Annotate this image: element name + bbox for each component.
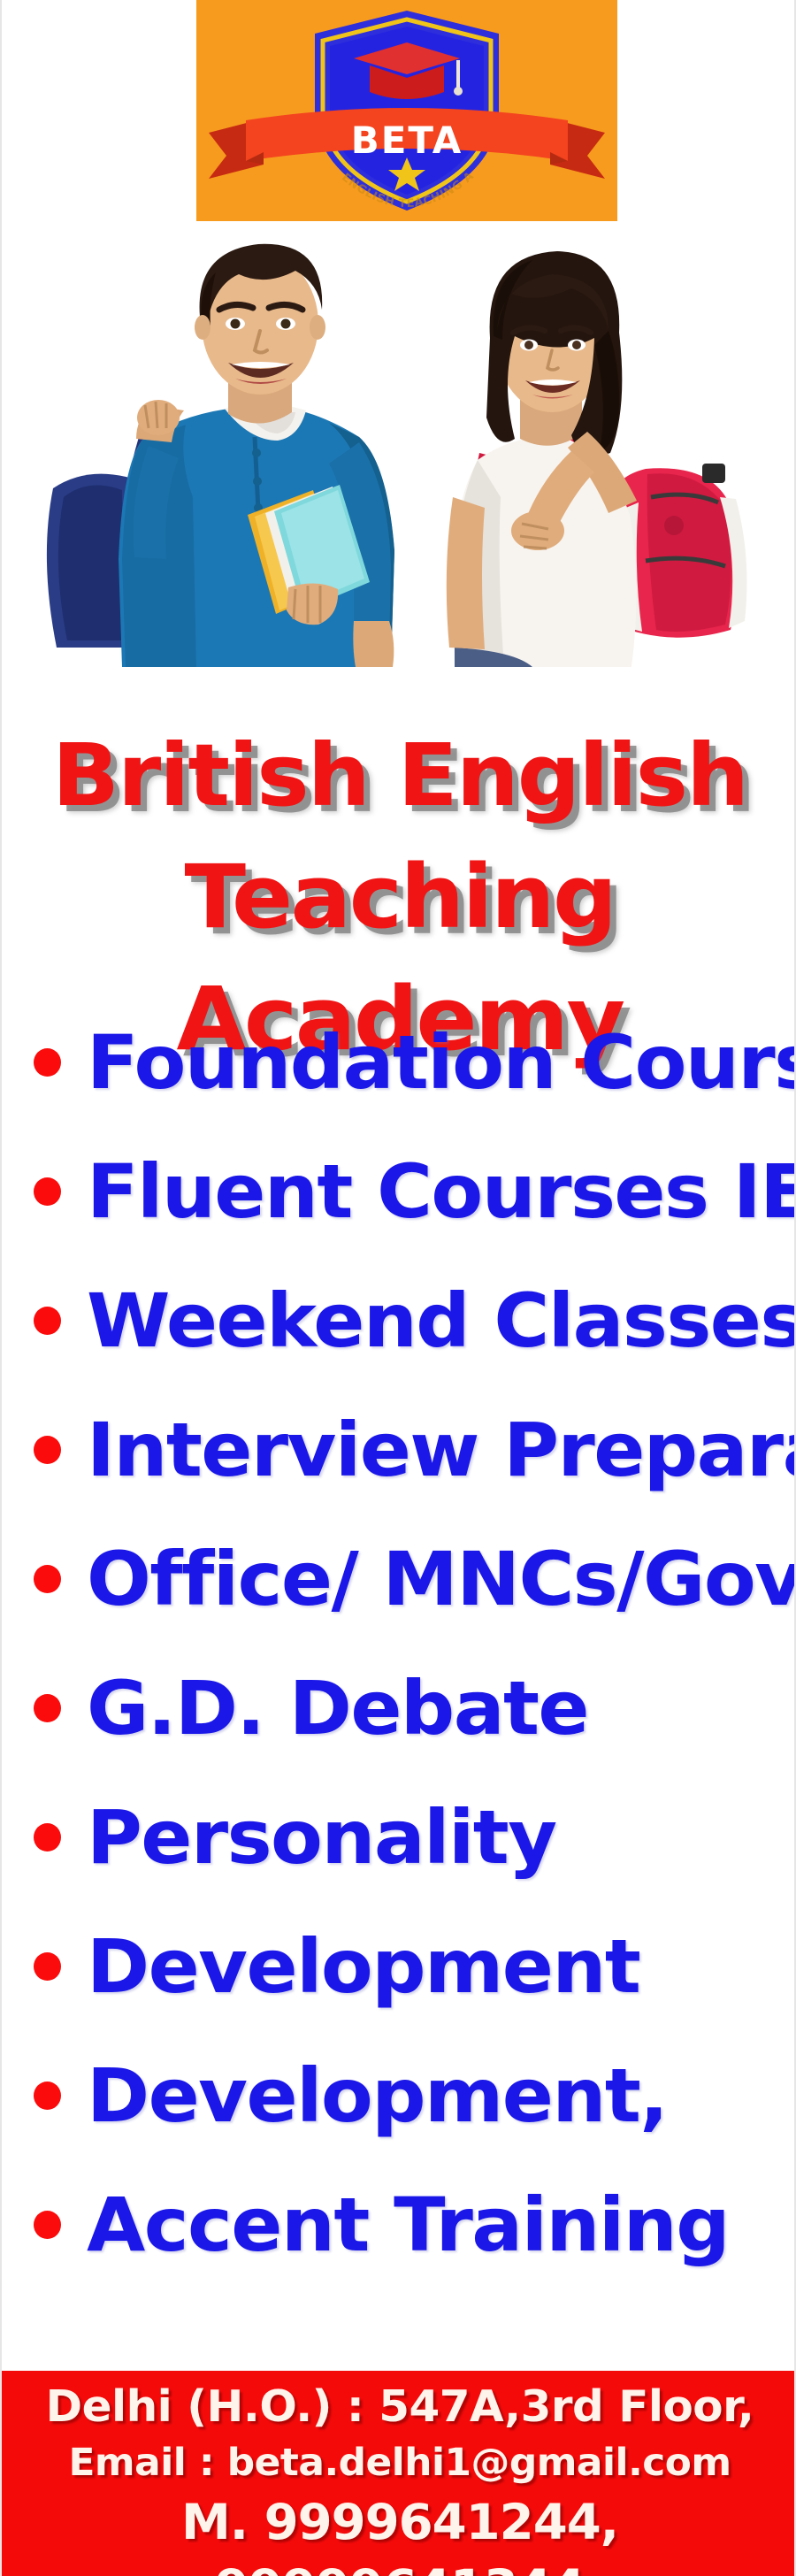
list-item: Development	[2, 1902, 796, 2031]
bullet-icon	[34, 1436, 61, 1464]
bullet-icon	[34, 1823, 61, 1851]
bullet-icon	[34, 1952, 61, 1981]
bullet-icon	[34, 1694, 61, 1722]
list-item: Office/ MNCs/Govt.,	[2, 1514, 796, 1644]
list-item: G.D. Debate	[2, 1644, 796, 1773]
list-item: Development,	[2, 2031, 796, 2160]
bullet-icon	[34, 1177, 61, 1206]
bullet-icon	[34, 2081, 61, 2110]
bullet-icon	[34, 1307, 61, 1335]
logo-brand-text: BETA	[351, 119, 463, 162]
bullet-icon	[34, 1565, 61, 1593]
list-item: Fluent Courses IETS	[2, 1127, 796, 1256]
advertisement-poster: BRITISH ENGLISH TEACHING ACADEMY BETA	[0, 0, 796, 2576]
students-photo	[37, 232, 762, 709]
course-label: Accent Training	[87, 2187, 729, 2263]
course-label: Development	[87, 1928, 639, 2005]
title-line-1: British English	[0, 715, 796, 837]
list-item: Foundation Courses	[2, 998, 796, 1127]
course-label: Office/ MNCs/Govt.,	[87, 1541, 796, 1617]
list-item: Accent Training	[2, 2160, 796, 2289]
course-label: Interview Preparation	[87, 1412, 796, 1488]
course-label: Fluent Courses IETS	[87, 1154, 796, 1230]
phone-text[interactable]: M. 9999641244, 99999641344	[0, 2489, 796, 2576]
brand-logo: BRITISH ENGLISH TEACHING ACADEMY BETA	[196, 0, 617, 221]
list-item: Personality	[2, 1773, 796, 1902]
course-list: Foundation Courses Fluent Courses IETS W…	[2, 998, 796, 2289]
address-text: Delhi (H.O.) : 547A,3rd Floor,	[0, 2378, 796, 2436]
contact-footer: Delhi (H.O.) : 547A,3rd Floor, Email : b…	[2, 2371, 796, 2576]
bullet-icon	[34, 1048, 61, 1077]
course-label: Foundation Courses	[87, 1024, 796, 1100]
list-item: Weekend Classes,	[2, 1256, 796, 1385]
logo-artwork: BRITISH ENGLISH TEACHING ACADEMY BETA	[196, 0, 617, 221]
course-label: Personality	[87, 1799, 556, 1875]
course-label: Weekend Classes,	[87, 1283, 796, 1359]
bullet-icon	[34, 2211, 61, 2239]
list-item: Interview Preparation	[2, 1385, 796, 1514]
course-label: Development,	[87, 2058, 667, 2134]
email-text[interactable]: Email : beta.delhi1@gmail.com	[0, 2436, 796, 2489]
course-label: G.D. Debate	[87, 1670, 588, 1746]
